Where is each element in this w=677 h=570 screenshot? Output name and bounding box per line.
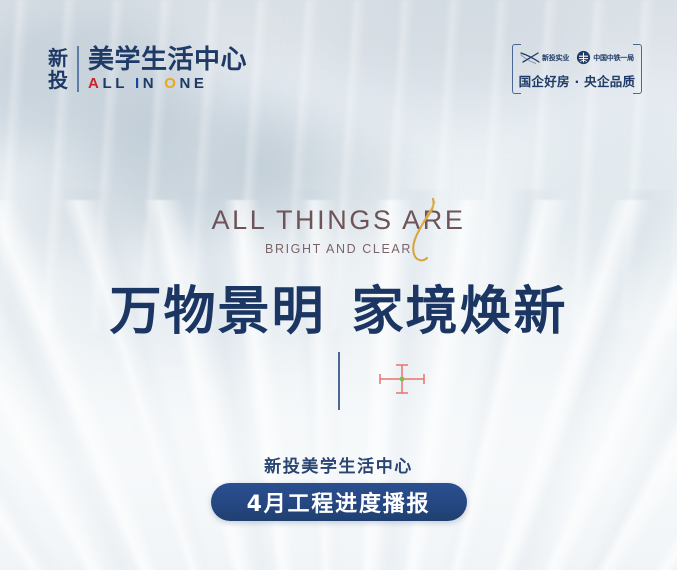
- brand-en-letter-l2: L: [115, 76, 128, 92]
- endorsement-company-2-name: 中国中铁一局: [593, 53, 634, 63]
- headline-part-1: 万物景明: [109, 281, 325, 342]
- endorsement-companies: 新投实业 中国中铁一局: [520, 47, 634, 69]
- brand-logo-wordmark: 美学生活中心 A L L I N O N E: [88, 44, 247, 94]
- ornament-divider: [0, 352, 677, 412]
- brand-logo[interactable]: 新 投 美学生活中心 A L L I N O N E: [48, 44, 247, 94]
- bracket-right-icon: [633, 44, 642, 94]
- endorsement-company-2: 中国中铁一局: [576, 50, 634, 65]
- x-swoosh-mark-icon: [520, 51, 540, 65]
- endorsement-tagline: 国企好房 · 央企品质: [519, 71, 636, 90]
- cta-container: 4月工程进度播报: [0, 483, 677, 521]
- brand-en-letter-n1: N: [143, 76, 157, 92]
- brand-en-letter-e: E: [194, 76, 208, 92]
- brand-en-letter-a: A: [88, 76, 102, 92]
- brand-en-letter-o: O: [164, 76, 179, 92]
- crosshair-ornament-icon: [378, 362, 426, 396]
- brand-logo-char-top: 新: [48, 47, 68, 69]
- endorsement-company-1-name: 新投实业: [542, 53, 569, 63]
- brand-logo-char-bottom: 投: [48, 69, 68, 91]
- crtg-circle-mark-icon: [576, 50, 591, 65]
- endorsement-badge: 新投实业 中国中铁一局 国企好房 · 央企品质: [512, 42, 642, 94]
- endorsement-company-1: 新投实业: [520, 51, 569, 65]
- brand-en-letter-i: I: [135, 76, 143, 92]
- poster-canvas: 新 投 美学生活中心 A L L I N O N E: [0, 0, 677, 570]
- poster-header: 新 投 美学生活中心 A L L I N O N E: [0, 0, 677, 118]
- brand-en-letter-n2: N: [179, 76, 193, 92]
- brand-name-en: A L L I N O N E: [88, 76, 247, 92]
- vertical-rule-icon: [338, 352, 340, 410]
- progress-report-button[interactable]: 4月工程进度播报: [211, 483, 467, 521]
- headline-part-2: 家境焕新: [352, 281, 568, 342]
- page-title: 万物景明家境焕新: [0, 282, 677, 342]
- brand-logo-divider: [77, 46, 79, 92]
- brand-logo-stacked-chars: 新 投: [48, 44, 68, 94]
- brand-en-letter-l1: L: [102, 76, 115, 92]
- bracket-left-icon: [512, 44, 521, 94]
- brand-name-cn: 美学生活中心: [88, 46, 247, 74]
- project-name: 新投美学生活中心: [0, 452, 677, 477]
